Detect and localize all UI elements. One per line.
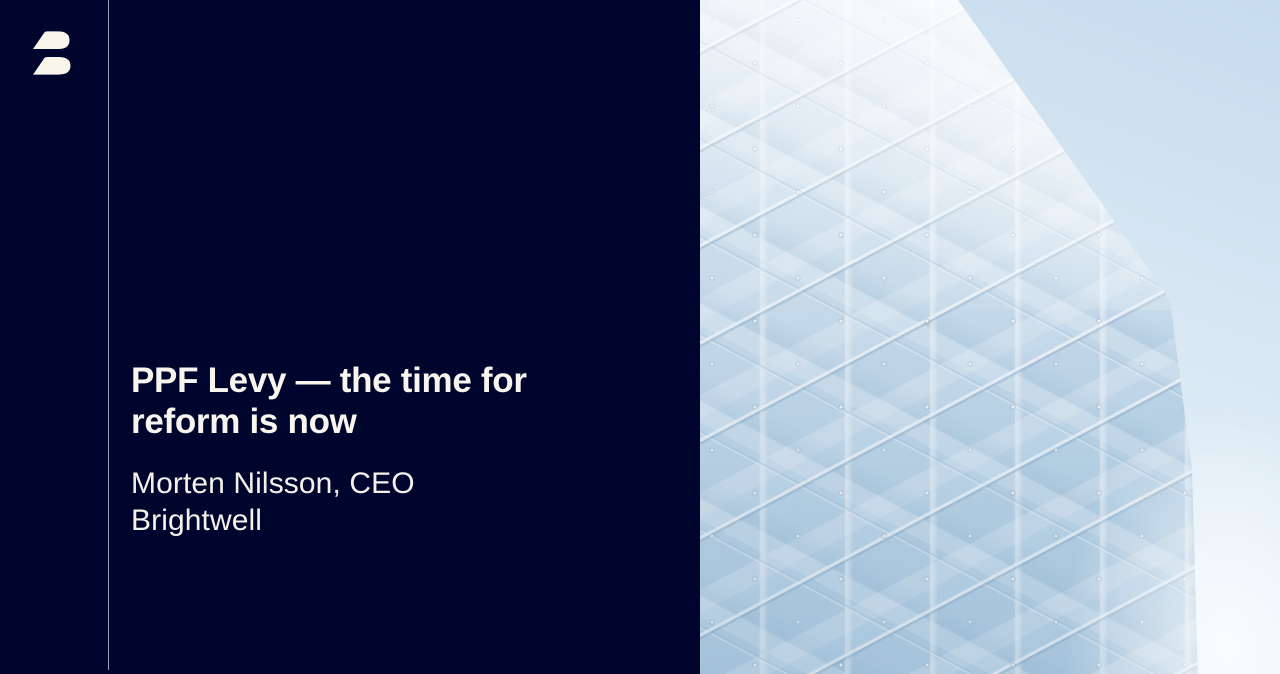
text-block: PPF Levy — the time for reform is now Mo… [131, 360, 651, 540]
page-title: PPF Levy — the time for reform is now [131, 360, 531, 443]
slide-root: PPF Levy — the time for reform is now Mo… [0, 0, 1280, 674]
author-byline: Morten Nilsson, CEO Brightwell [131, 465, 461, 541]
navy-panel: PPF Levy — the time for reform is now Mo… [0, 0, 700, 674]
vertical-divider [108, 0, 109, 670]
facade-photo [700, 0, 1280, 674]
brightwell-b-logo [31, 28, 75, 78]
